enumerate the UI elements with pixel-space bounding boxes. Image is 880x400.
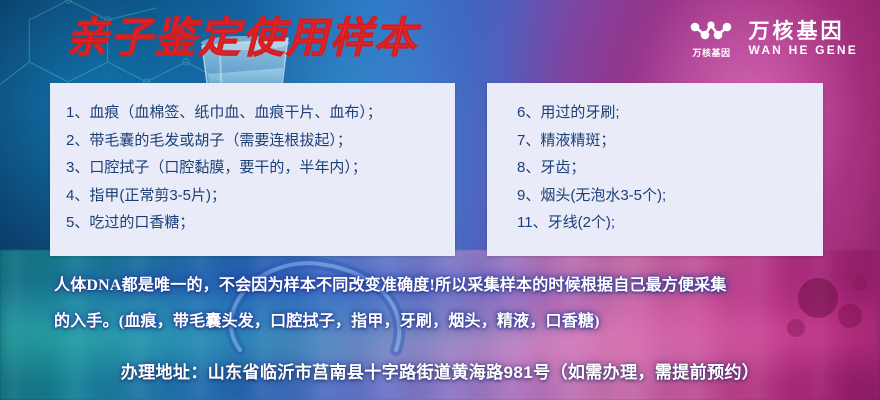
list-item: 6、用过的牙刷;	[487, 99, 823, 127]
brand-text: 万核基因 WAN HE GENE	[748, 20, 858, 57]
list-item: 5、吃过的口香糖；	[50, 209, 455, 237]
list-item: 7、精液精斑；	[487, 127, 823, 155]
list-item: 9、烟头(无泡水3-5个);	[487, 182, 823, 210]
brand-mark-caption: 万核基因	[692, 46, 730, 59]
note-paragraph: 人体DNA都是唯一的，不会因为样本不同改变准确度!所以采集样本的时候根据自己最方…	[54, 268, 830, 340]
molecule-icon	[688, 18, 734, 44]
list-item: 3、口腔拭子（口腔黏膜，要干的，半年内）；	[50, 154, 455, 182]
note-line-1: 人体DNA都是唯一的，不会因为样本不同改变准确度!所以采集样本的时候根据自己最方…	[54, 268, 830, 304]
brand-name-cn: 万核基因	[748, 20, 858, 43]
list-item: 8、牙齿；	[487, 154, 823, 182]
brand-logo[interactable]: 万核基因 万核基因 WAN HE GENE	[688, 18, 858, 59]
page-title: 亲子鉴定使用样本	[66, 18, 418, 60]
brand-mark: 万核基因	[688, 18, 734, 59]
list-item: 1、血痕（血棉签、纸巾血、血痕干片、血布）；	[50, 99, 455, 127]
sample-list-panel-right: 6、用过的牙刷; 7、精液精斑； 8、牙齿； 9、烟头(无泡水3-5个); 11…	[487, 83, 823, 256]
address-text: 办理地址：山东省临沂市莒南县十字路街道黄海路981号（如需办理，需提前预约）	[121, 358, 760, 383]
note-line-2: 的入手。(血痕，带毛囊头发，口腔拭子，指甲，牙刷，烟头，精液，口香糖)	[54, 304, 830, 340]
sample-list-right: 6、用过的牙刷; 7、精液精斑； 8、牙齿； 9、烟头(无泡水3-5个); 11…	[487, 83, 823, 237]
address-bar: 办理地址：山东省临沂市莒南县十字路街道黄海路981号（如需办理，需提前预约）	[0, 352, 880, 388]
promo-banner: 亲子鉴定使用样本 万核基因 万核基因 WAN HE GENE 1、血痕（血棉签	[0, 0, 880, 400]
list-item: 4、指甲(正常剪3-5片)；	[50, 182, 455, 210]
brand-name-en: WAN HE GENE	[748, 44, 858, 57]
list-item: 11、牙线(2个);	[487, 209, 823, 237]
sample-list-left: 1、血痕（血棉签、纸巾血、血痕干片、血布）； 2、带毛囊的毛发或胡子（需要连根拔…	[50, 83, 455, 237]
list-item: 2、带毛囊的毛发或胡子（需要连根拔起）；	[50, 127, 455, 155]
sample-list-panel-left: 1、血痕（血棉签、纸巾血、血痕干片、血布）； 2、带毛囊的毛发或胡子（需要连根拔…	[50, 83, 455, 256]
